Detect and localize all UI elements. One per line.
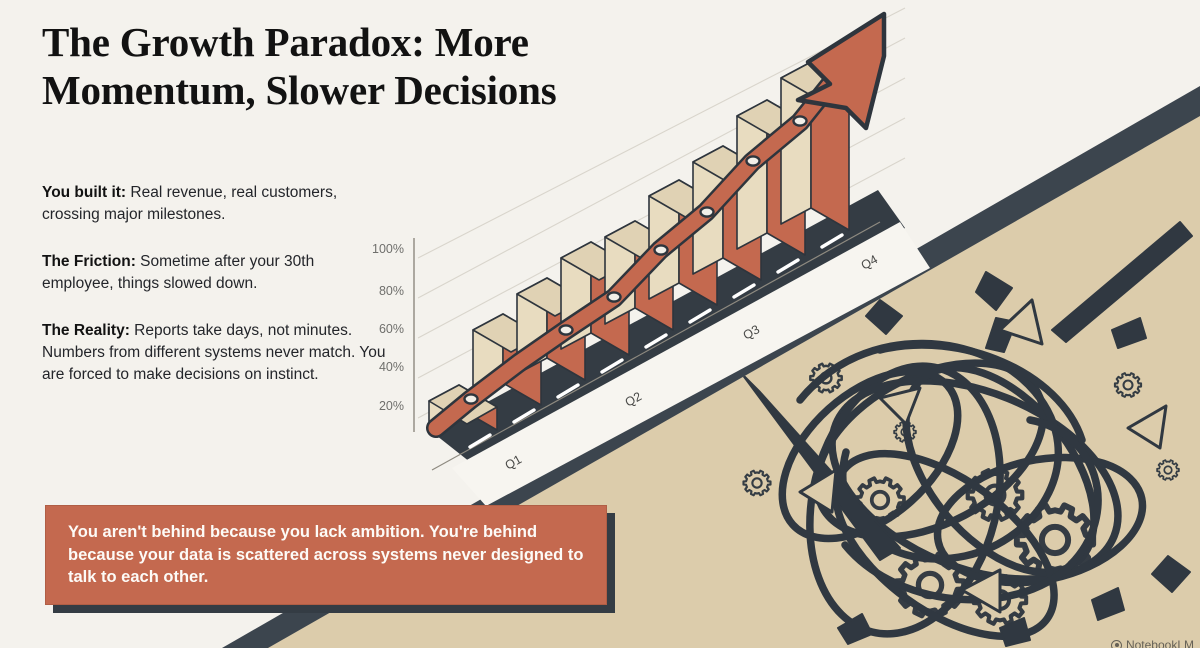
paragraph-lead-3: The Reality: [42, 322, 130, 339]
callout-banner: You aren't behind because you lack ambit… [45, 505, 607, 605]
watermark-label: NotebookLM [1126, 638, 1194, 648]
page-title: The Growth Paradox: More Momentum, Slowe… [42, 18, 682, 115]
paragraph-lead-1: You built it: [42, 184, 126, 201]
paragraph-the-reality: The Reality: Reports take days, not minu… [42, 320, 387, 386]
infographic-canvas: 100% 80% 60% 40% 20% [0, 0, 1200, 648]
paragraph-you-built-it: You built it: Real revenue, real custome… [42, 182, 387, 226]
paragraph-the-friction: The Friction: Sometime after your 30th e… [42, 251, 387, 295]
callout-text: You aren't behind because you lack ambit… [46, 521, 606, 590]
callout-box: You aren't behind because you lack ambit… [45, 505, 607, 605]
copyright-icon [1111, 640, 1122, 648]
watermark: NotebookLM [1111, 638, 1194, 648]
body-copy: You built it: Real revenue, real custome… [42, 182, 387, 411]
paragraph-lead-2: The Friction: [42, 253, 136, 270]
